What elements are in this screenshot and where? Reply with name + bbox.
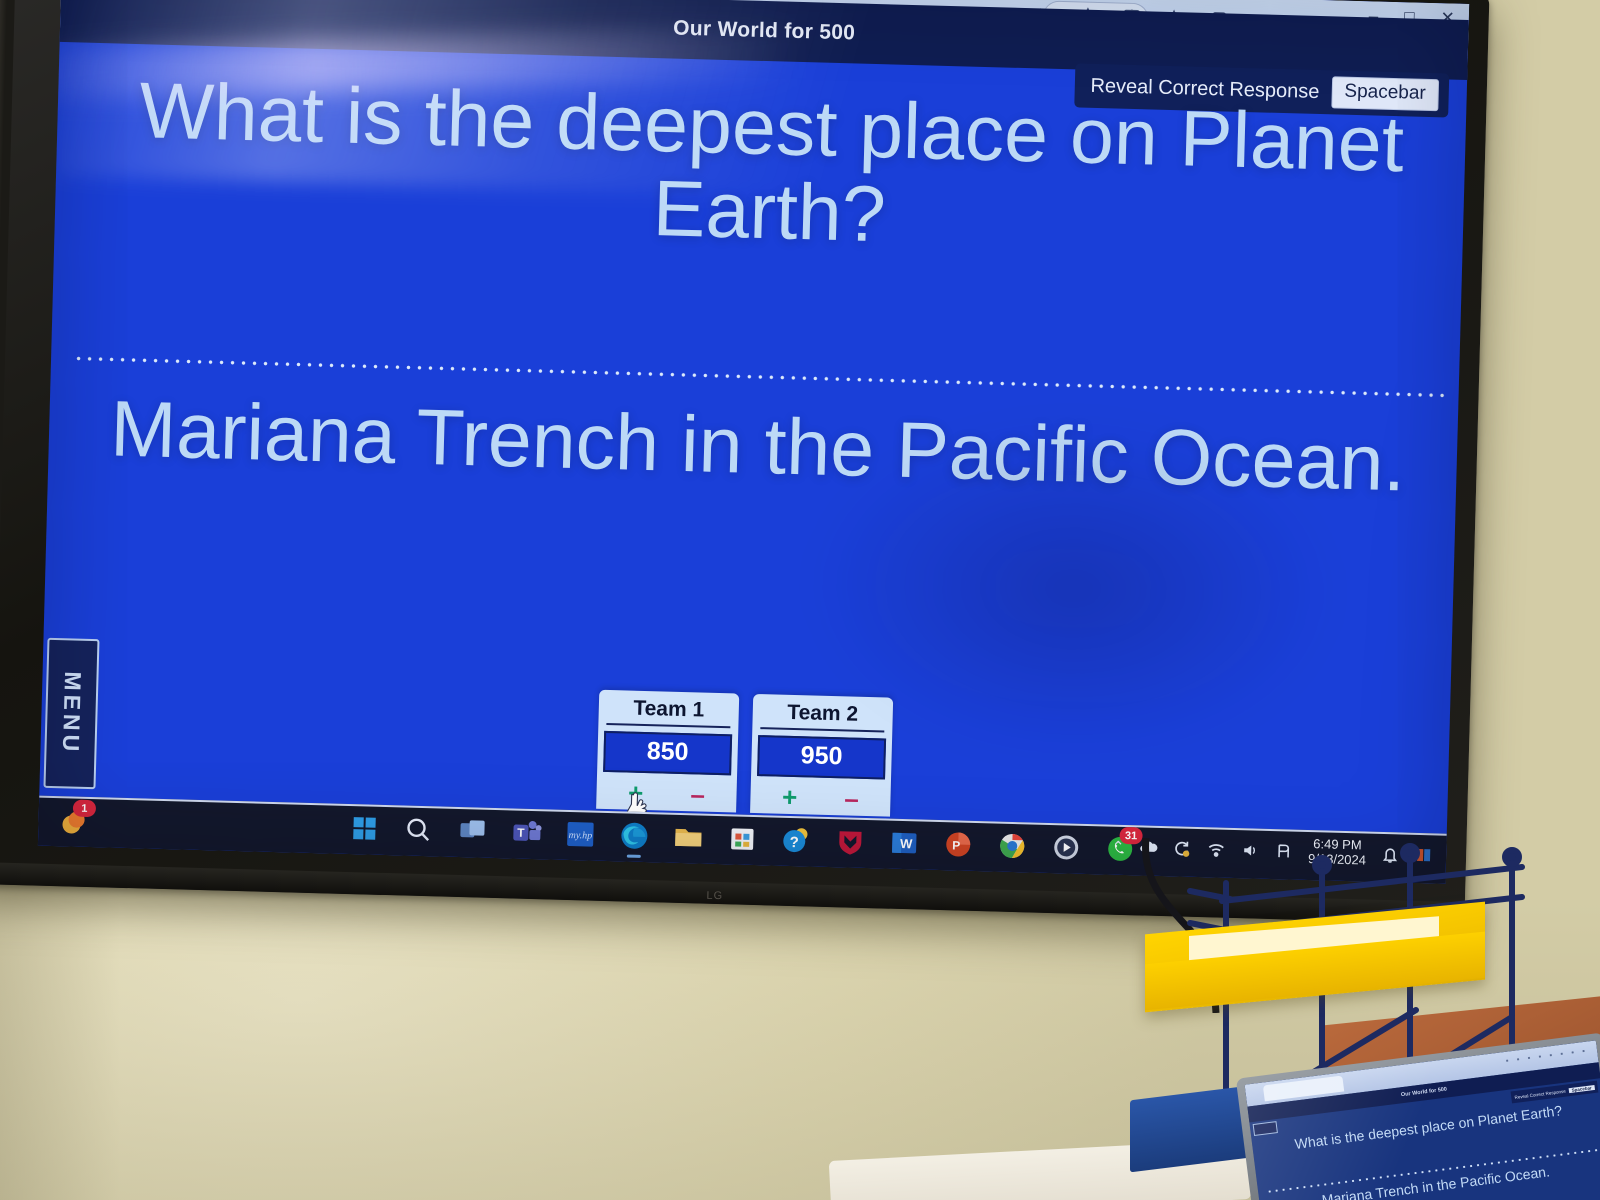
svg-text:T: T [517,826,525,840]
svg-text:?: ? [789,834,799,851]
app-badge-count: 1 [73,800,96,818]
answer-text: Mariana Trench in the Pacific Ocean. [68,386,1448,506]
team-name: Team 2 [760,700,885,732]
laptop-menu-button [1253,1121,1278,1136]
microsoft-teams-icon[interactable]: T [509,815,544,850]
laptop-answer-text: Mariana Trench in the Pacific Ocean. [1265,1156,1600,1200]
team-1-decrease-button[interactable]: – [690,781,705,807]
wall-mounted-tv: LG [0,0,1489,924]
tv-brand-logo: LG [706,890,723,902]
menu-button[interactable]: MENU [43,638,99,789]
team-score: 850 [603,731,732,775]
microsoft-store-icon[interactable] [725,821,760,856]
mcafee-icon[interactable] [833,824,868,859]
taskbar-left-app[interactable]: 1 [56,804,91,839]
quiz-category-title: Our World for 500 [673,17,856,46]
team-score-controls: + – [758,783,883,812]
scene-root: LG [0,0,1600,1200]
microsoft-word-icon[interactable]: W [887,826,922,861]
start-button[interactable] [347,811,382,846]
team-name: Team 1 [606,696,731,728]
laptop-spacebar-button: Spacebar [1568,1084,1595,1092]
team-2-decrease-button[interactable]: – [844,785,859,811]
team-score: 950 [757,735,886,779]
team-scoreboard: Team 1 850 + – Team 2 950 [596,690,893,817]
notification-app-icon[interactable]: 1 [56,804,91,839]
menu-button-label: MENU [57,671,86,755]
google-chrome-icon[interactable] [995,829,1030,864]
microsoft-powerpoint-icon[interactable]: P [941,827,976,862]
laptop-quiz-title: Our World for 500 [1401,1086,1448,1098]
search-icon[interactable] [401,812,436,847]
laptop-reveal-label: Reveal Correct Response [1514,1088,1566,1099]
team-card[interactable]: Team 2 950 + – [750,694,893,817]
team-card[interactable]: Team 1 850 + – [596,690,739,813]
svg-text:my.hp: my.hp [568,830,592,842]
team-score-controls: + – [604,779,729,808]
svg-text:P: P [952,838,960,852]
tray-chevron-icon[interactable]: ⌃ [1112,838,1125,856]
laptop-toolbar-icons [1501,1047,1591,1064]
file-explorer-icon[interactable] [671,820,706,855]
my-hp-icon[interactable]: my.hp [563,817,598,852]
microsoft-edge-icon[interactable] [617,818,652,853]
tips-help-icon[interactable]: ? [779,823,814,858]
media-player-icon[interactable] [1049,830,1084,865]
svg-text:W: W [900,836,913,851]
team-1-increase-button[interactable]: + [628,780,644,806]
tv-screen: – □ ✕ Our World for 500 Reveal Correct R… [38,0,1469,884]
question-text: What is the deepest place on Planet Eart… [94,67,1446,271]
team-2-increase-button[interactable]: + [782,784,798,810]
quiz-body: What is the deepest place on Planet Eart… [39,56,1467,836]
task-view-icon[interactable] [455,814,490,849]
